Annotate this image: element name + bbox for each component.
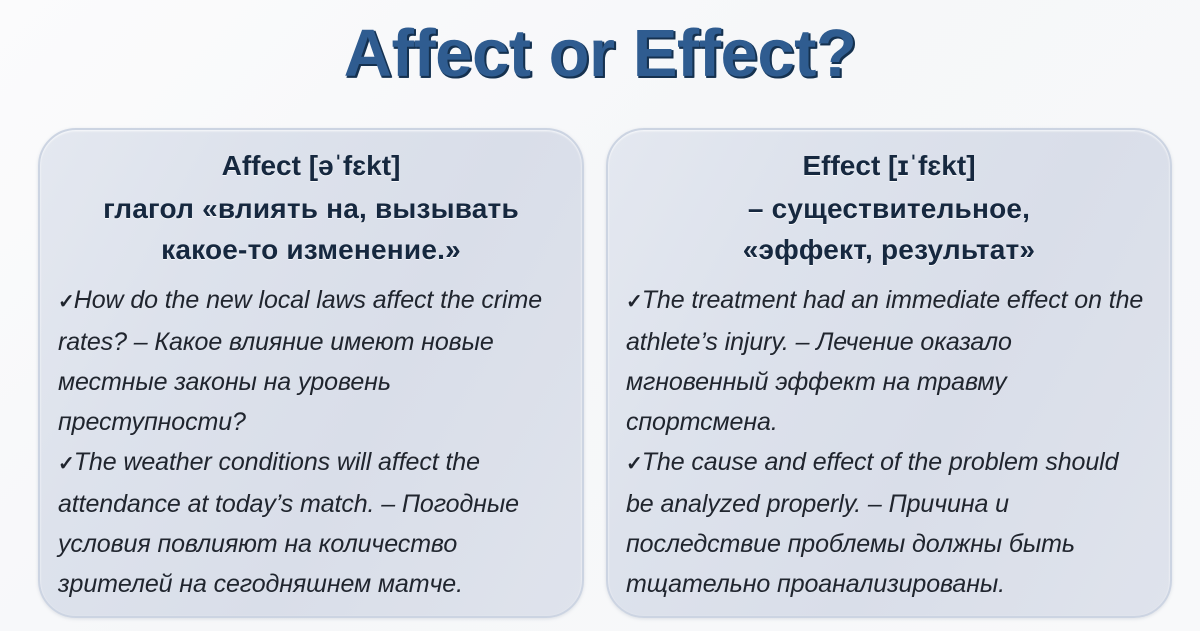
slide-canvas: Affect or Effect? Affect [əˈfɛkt] глагол… bbox=[0, 0, 1200, 631]
example-text: How do the new local laws affect the cri… bbox=[58, 286, 542, 436]
card-heading-effect-english: Effect [ɪˈfɛkt] bbox=[626, 146, 1152, 186]
definition-card-affect: Affect [əˈfɛkt] глагол «влиять на, вызыв… bbox=[38, 128, 584, 618]
check-icon: ✓ bbox=[58, 291, 74, 313]
example-item: ✓How do the new local laws affect the cr… bbox=[58, 280, 564, 442]
example-item: ✓The treatment had an immediate effect o… bbox=[626, 280, 1152, 442]
card-heading-affect-english: Affect [əˈfɛkt] bbox=[58, 146, 564, 186]
check-icon: ✓ bbox=[626, 291, 642, 313]
example-text: The cause and effect of the problem shou… bbox=[626, 448, 1118, 598]
check-icon: ✓ bbox=[58, 453, 74, 475]
definition-card-effect: Effect [ɪˈfɛkt] – существительное, «эффе… bbox=[606, 128, 1172, 618]
example-text: The treatment had an immediate effect on… bbox=[626, 286, 1143, 436]
card-heading-effect-russian-line2: «эффект, результат» bbox=[626, 229, 1152, 270]
card-heading-affect-russian-line1: глагол «влиять на, вызывать bbox=[58, 188, 564, 229]
example-list-effect: ✓The treatment had an immediate effect o… bbox=[626, 280, 1152, 604]
example-list-affect: ✓How do the new local laws affect the cr… bbox=[58, 280, 564, 604]
example-text: The weather conditions will affect the a… bbox=[58, 448, 519, 598]
card-heading-affect-russian-line2: какое-то изменение.» bbox=[58, 229, 564, 270]
example-item: ✓The weather conditions will affect the … bbox=[58, 442, 564, 604]
page-title: Affect or Effect? bbox=[0, 14, 1200, 94]
example-item: ✓The cause and effect of the problem sho… bbox=[626, 442, 1152, 604]
check-icon: ✓ bbox=[626, 453, 642, 475]
card-heading-effect-russian-line1: – существительное, bbox=[626, 188, 1152, 229]
